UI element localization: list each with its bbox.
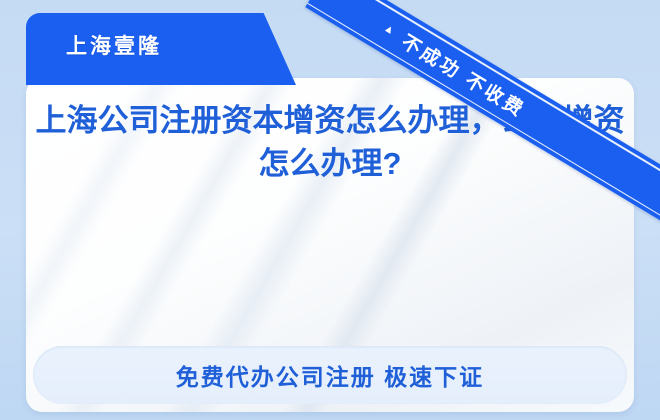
- brand-tab-label: 上海壹隆: [66, 30, 162, 60]
- triangle-up-icon: ▲: [382, 22, 397, 37]
- poster-root: 上海壹隆 上海公司注册资本增资怎么办理，公司增资怎么办理? 免费代办公司注册 极…: [0, 0, 660, 420]
- cta-banner[interactable]: 免费代办公司注册 极速下证: [33, 346, 627, 404]
- cta-banner-label: 免费代办公司注册 极速下证: [176, 358, 484, 392]
- brand-tab: 上海壹隆: [26, 13, 296, 85]
